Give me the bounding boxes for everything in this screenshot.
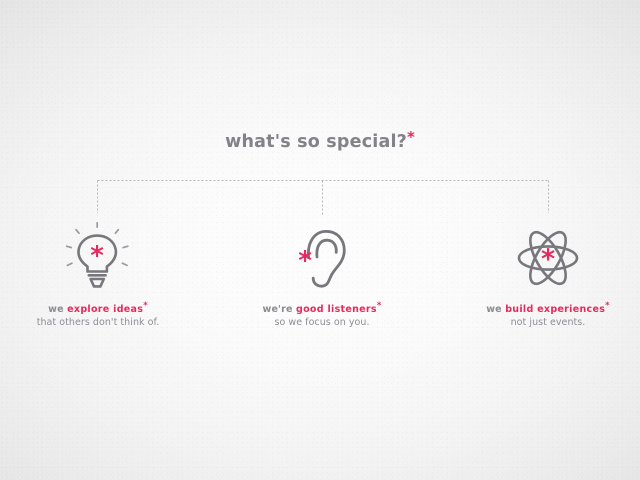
asterisk-glyph: * [90, 241, 104, 271]
asterisk-glyph: * [541, 244, 555, 275]
ear-icon: * [283, 222, 361, 294]
lightbulb-icon: * [59, 222, 137, 294]
caption-lead: we [486, 304, 505, 315]
caption-lead: we [48, 304, 67, 315]
caption-build-experiences: we build experiences* not just events. [438, 304, 640, 329]
caption-good-listeners: we're good listeners* so we focus on you… [212, 304, 432, 329]
caption-line-primary: we build experiences* [438, 304, 640, 316]
caption-line-secondary: so we focus on you. [212, 317, 432, 329]
page-title-text: what's so special? [225, 132, 407, 152]
atom-icon: * [509, 222, 587, 294]
ear-icon-box: * [212, 222, 432, 294]
caption-line-primary: we're good listeners* [212, 304, 432, 316]
lightbulb-icon-box: * [0, 222, 208, 294]
caption-explore-ideas: we explore ideas* that others don't thin… [0, 304, 208, 329]
caption-asterisk: * [143, 301, 148, 311]
caption-highlight: explore ideas [67, 304, 143, 315]
caption-line-primary: we explore ideas* [0, 304, 208, 316]
page-title-asterisk: * [407, 128, 415, 146]
feature-column-good-listeners: * we're good listeners* so we focus on y… [212, 222, 432, 329]
slide-canvas: what's so special?* [0, 0, 640, 480]
page-title: what's so special?* [0, 132, 640, 152]
feature-column-build-experiences: * we build experiences* not just events. [438, 222, 640, 329]
feature-column-explore-ideas: * we explore ideas* that others don't th… [0, 222, 208, 329]
caption-highlight: good listeners [296, 304, 377, 315]
caption-asterisk: * [377, 301, 382, 311]
caption-line-secondary: that others don't think of. [0, 317, 208, 329]
caption-line-secondary: not just events. [438, 317, 640, 329]
caption-highlight: build experiences [505, 304, 605, 315]
caption-asterisk: * [605, 301, 610, 311]
asterisk-glyph: * [298, 246, 312, 276]
atom-icon-box: * [438, 222, 640, 294]
caption-lead: we're [263, 304, 296, 315]
